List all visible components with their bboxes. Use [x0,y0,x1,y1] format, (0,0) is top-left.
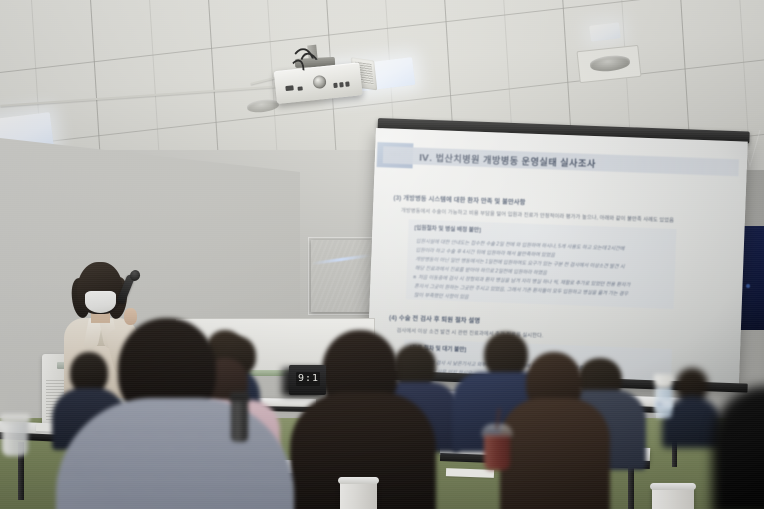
paper-cup-center [340,480,377,509]
digital-clock-reading: 9:1 [298,373,319,385]
projector-port [345,81,350,86]
digital-clock-face: 9:1 [296,372,320,386]
cup-rim [650,483,696,490]
paper-cup-on-bottle [654,374,673,388]
water-bottle-label: 생수 [655,400,672,410]
cup-rim [338,477,379,484]
projector-port [333,83,338,88]
cup-lid [0,414,30,422]
lecture-room-photo: 서울대 Ⅳ. 법산치병원 개방병동 운영실태 실사조사 (3) 개방병동 시스템… [0,0,764,509]
poster-highlight [311,254,371,265]
blue-wall-poster [311,240,371,312]
attendee-front-left [44,318,294,509]
wall-panel-dot [746,284,750,288]
face-mask-icon [85,291,116,313]
bottle-label-text: 생수 [657,402,663,406]
paper-sheet [446,468,494,478]
black-tumbler [231,398,248,442]
plastic-cup-lidded-left [2,418,28,456]
iced-drink-cup [484,434,510,470]
attendee-torso [500,398,610,509]
slide-section-heading: (3) 개방병동 시스템에 대한 환자 만족 및 불만사항 [393,193,525,207]
projector-port [339,82,344,87]
desk-leg [628,465,634,509]
attendee-right-long-hair [496,352,614,509]
slide-section-heading: (4) 수술 전 검사 후 퇴원 절차 설명 [389,313,480,325]
tumbler-lid [230,392,249,401]
attendee-torso [56,398,294,509]
